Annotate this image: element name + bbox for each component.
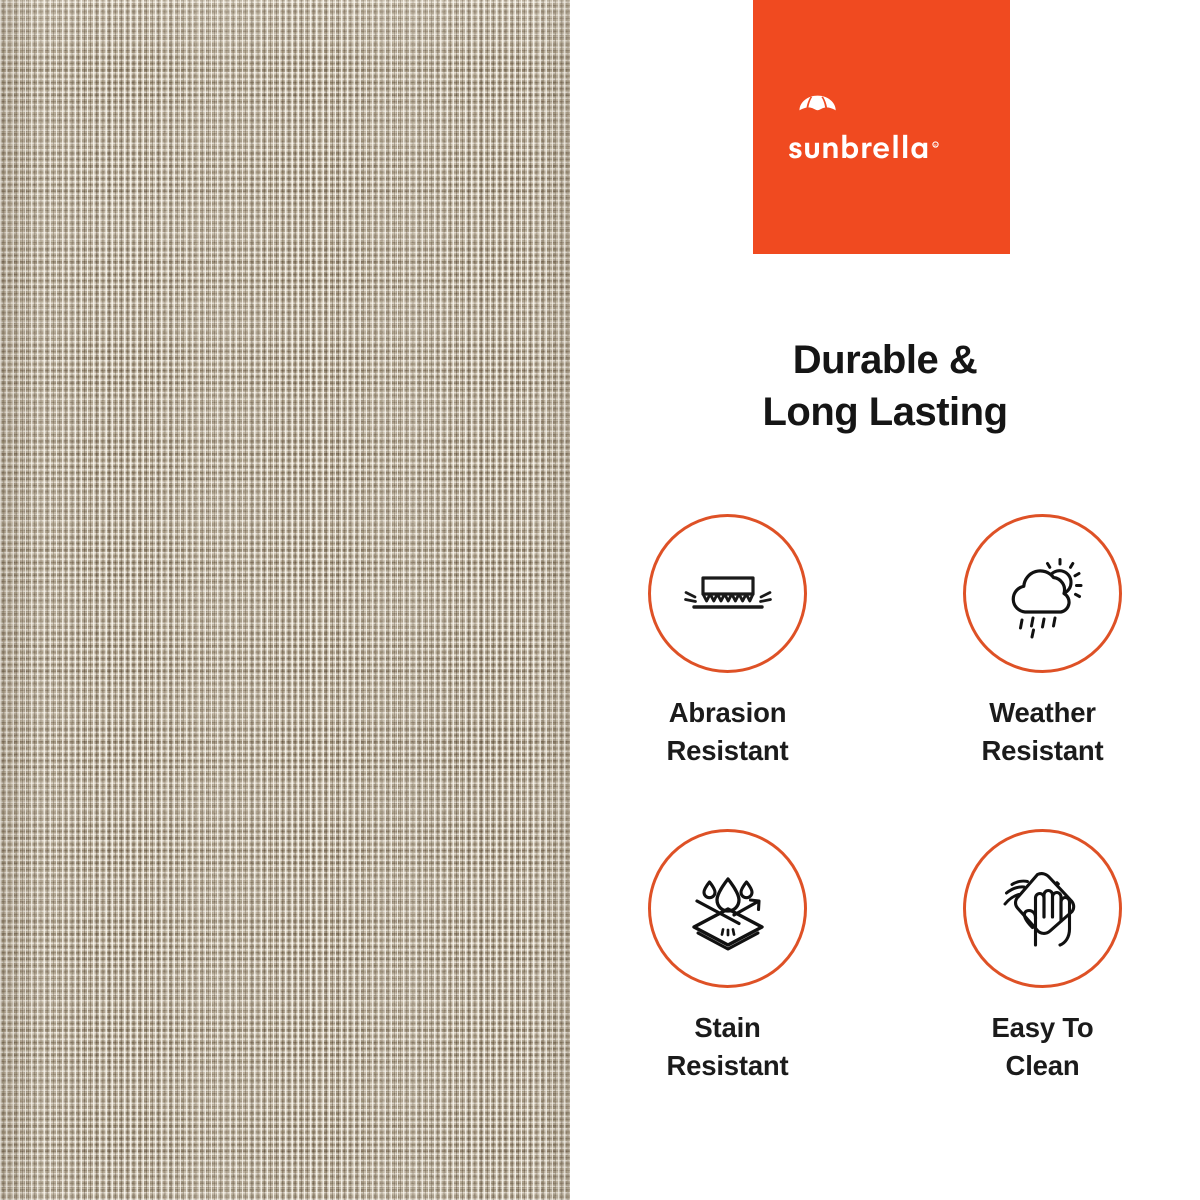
feature-label-line-2: Resistant bbox=[667, 732, 789, 770]
hand-wiping-cloth-icon bbox=[991, 857, 1095, 961]
feature-label: Abrasion Resistant bbox=[667, 694, 789, 770]
feature-label-line-1: Stain bbox=[694, 1012, 760, 1043]
sunbrella-wordmark bbox=[789, 135, 927, 159]
feature-label-line-1: Weather bbox=[989, 697, 1096, 728]
feature-icon-ring bbox=[963, 829, 1122, 988]
feature-label-line-2: Resistant bbox=[982, 732, 1104, 770]
feature-label-line-1: Easy To bbox=[991, 1012, 1093, 1043]
feature-icon-ring bbox=[963, 514, 1122, 673]
info-panel: R Durable & Long Lasting bbox=[570, 0, 1200, 1200]
feature-weather-resistant: Weather Resistant bbox=[885, 514, 1200, 770]
feature-label-line-2: Resistant bbox=[667, 1047, 789, 1085]
feature-label: Stain Resistant bbox=[667, 1009, 789, 1085]
fabric-swatch-image bbox=[0, 0, 570, 1200]
water-droplet-repel-icon bbox=[676, 857, 780, 961]
sunbrella-logo: R bbox=[789, 94, 975, 160]
feature-icon-ring bbox=[648, 829, 807, 988]
headline-line-2: Long Lasting bbox=[570, 386, 1200, 438]
feature-label-line-1: Abrasion bbox=[669, 697, 787, 728]
feature-easy-to-clean: Easy To Clean bbox=[885, 829, 1200, 1085]
brand-logo-block: R bbox=[753, 0, 1010, 254]
fabric-noise-overlay bbox=[0, 0, 570, 1200]
sun-cloud-rain-icon bbox=[991, 542, 1095, 646]
feature-label-line-2: Clean bbox=[991, 1047, 1093, 1085]
product-feature-infographic: R Durable & Long Lasting bbox=[0, 0, 1200, 1200]
feature-label: Easy To Clean bbox=[991, 1009, 1093, 1085]
feature-icon-ring bbox=[648, 514, 807, 673]
umbrella-icon bbox=[799, 96, 835, 111]
abrasion-brush-icon bbox=[676, 542, 780, 646]
feature-grid: Abrasion Resistant bbox=[570, 514, 1200, 1085]
page-title: Durable & Long Lasting bbox=[570, 334, 1200, 438]
headline-line-1: Durable & bbox=[570, 334, 1200, 386]
feature-label: Weather Resistant bbox=[982, 694, 1104, 770]
feature-stain-resistant: Stain Resistant bbox=[570, 829, 885, 1085]
feature-abrasion-resistant: Abrasion Resistant bbox=[570, 514, 885, 770]
